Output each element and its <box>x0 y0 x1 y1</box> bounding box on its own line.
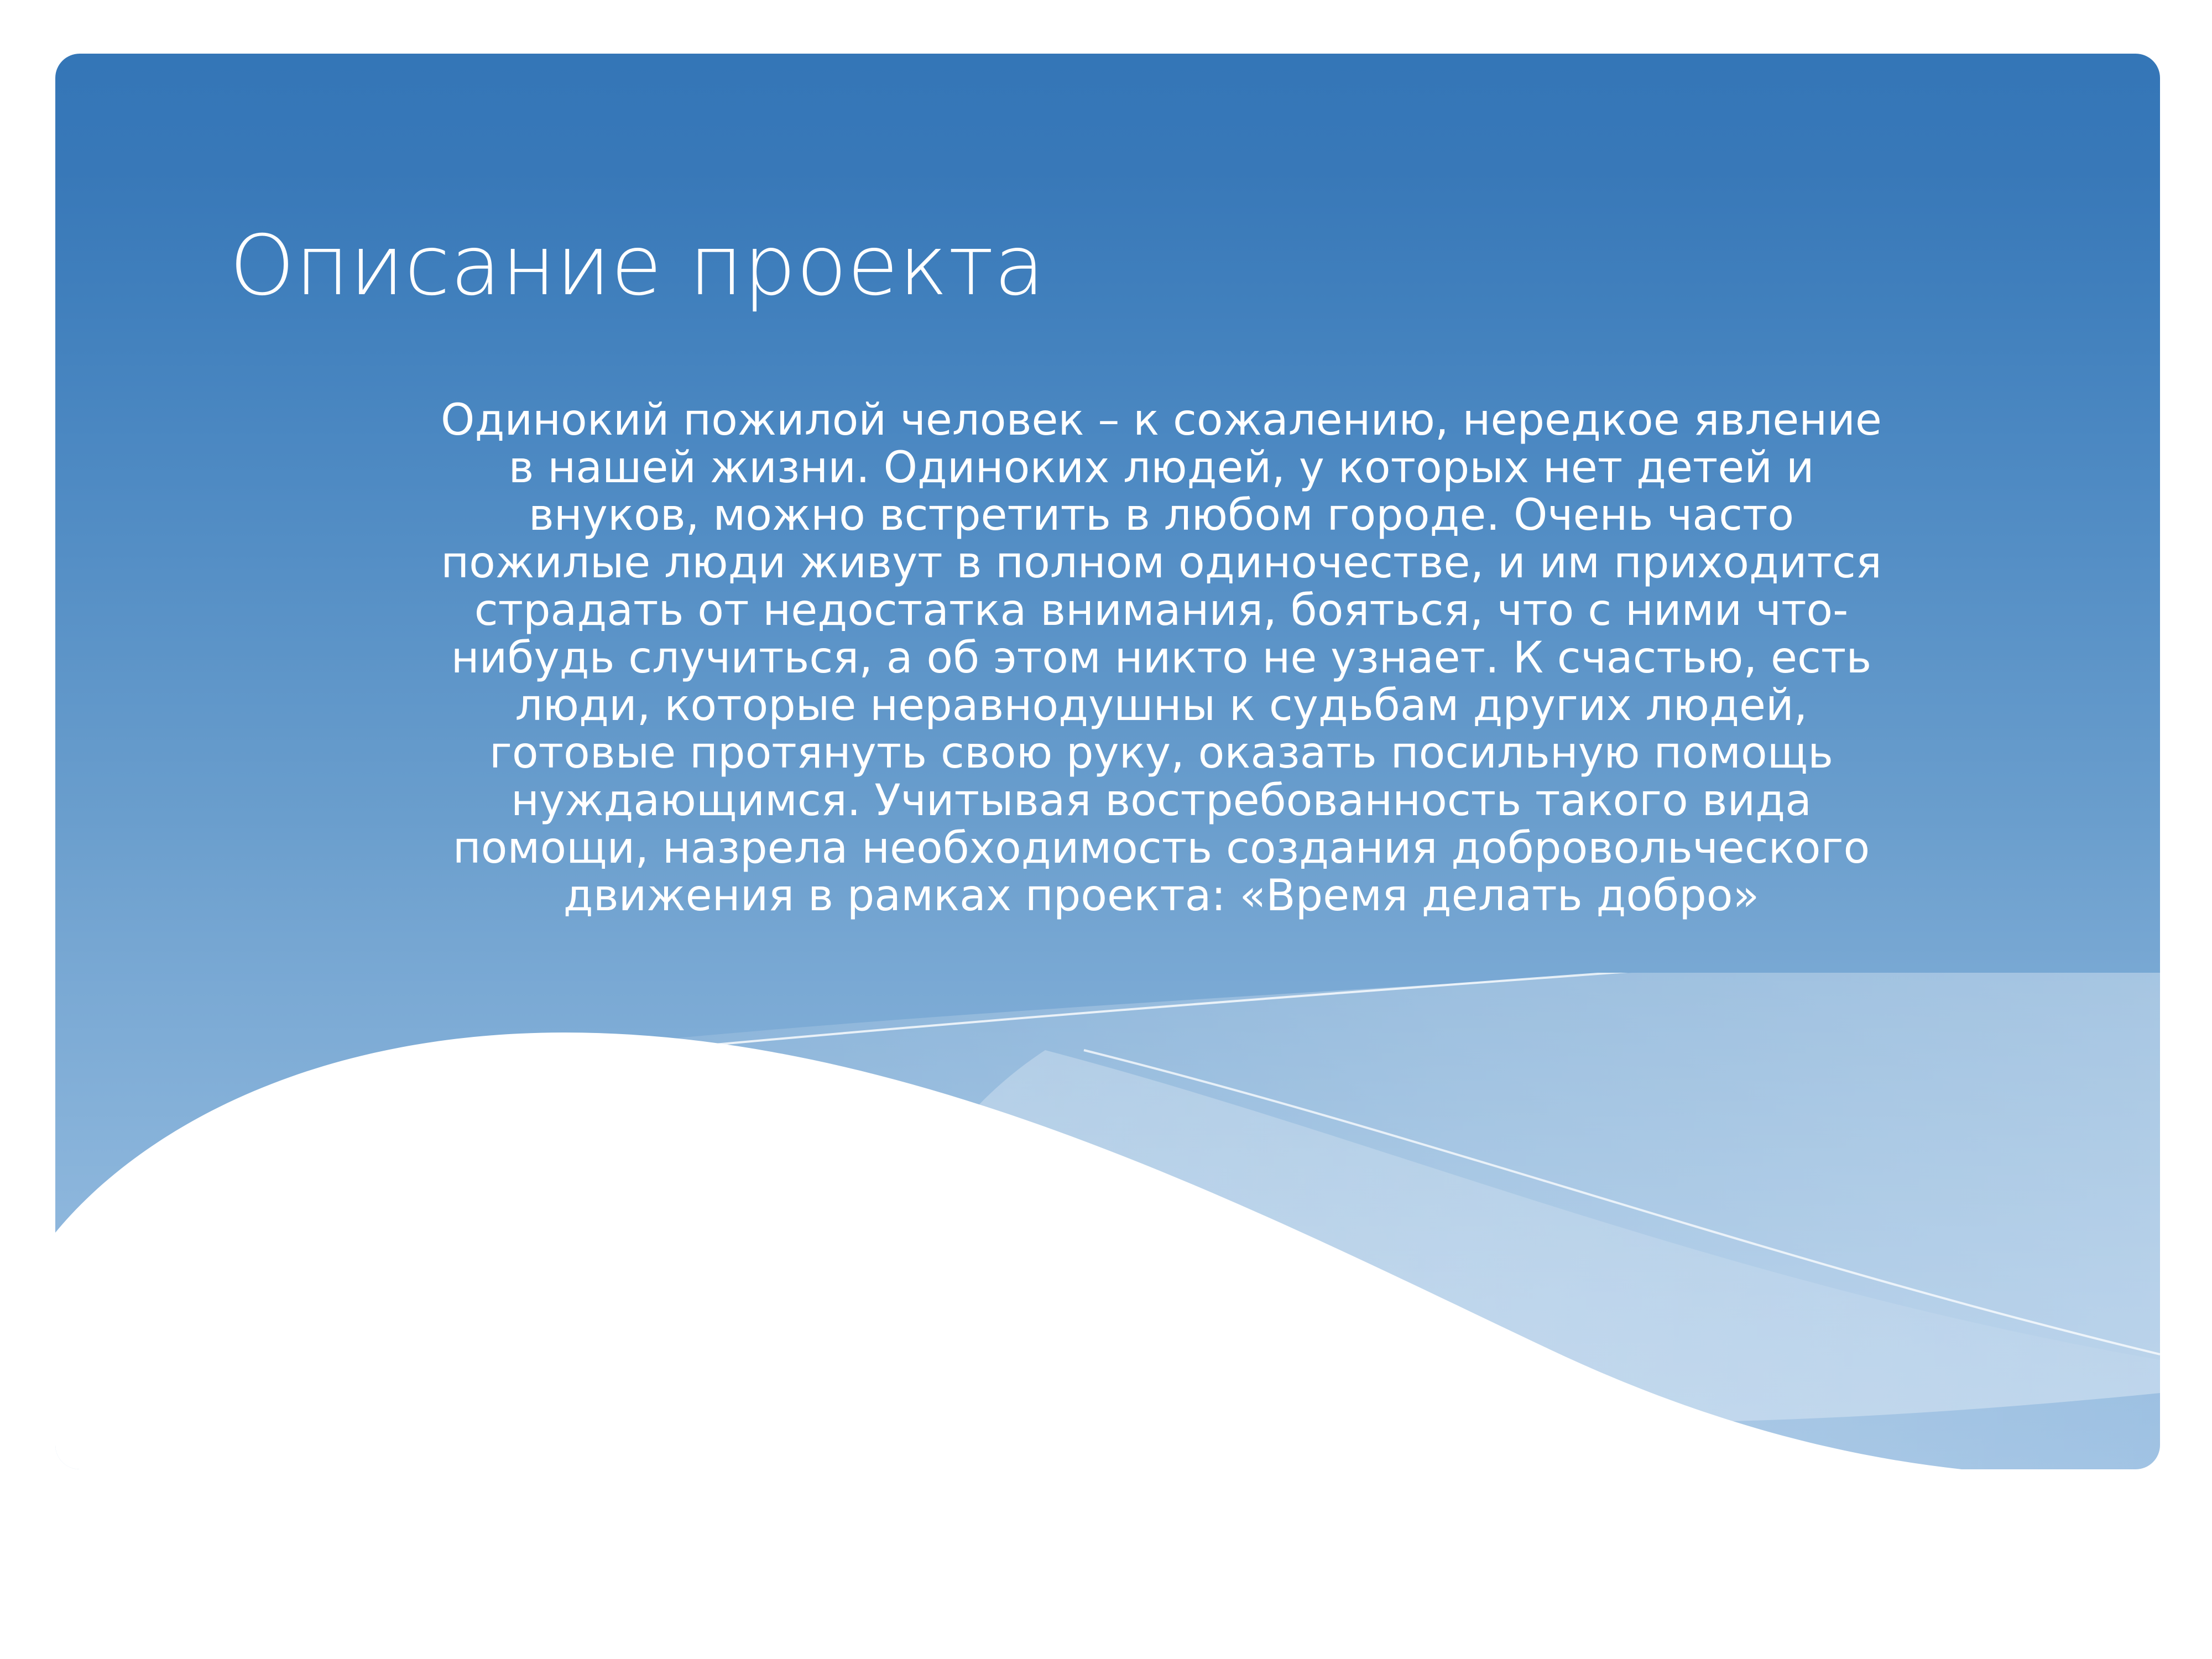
body-line: нибудь случиться, а об этом никто не узн… <box>155 634 2160 682</box>
body-line: пожилые люди живут в полном одиночестве,… <box>155 539 2160 587</box>
page-title: Описание проекта <box>229 220 2054 312</box>
body-line: Одинокий пожилой человек – к сожалению, … <box>155 397 2160 444</box>
body-line: страдать от недостатка внимания, бояться… <box>155 587 2160 634</box>
body-line: помощи, назрела необходимость создания д… <box>155 825 2160 872</box>
body-line: нуждающимся. Учитывая востребованность т… <box>155 777 2160 825</box>
body-line: внуков, можно встретить в любом городе. … <box>155 492 2160 539</box>
slide-body-text: Одинокий пожилой человек – к сожалению, … <box>155 397 2160 920</box>
body-line: люди, которые неравнодушны к судьбам дру… <box>155 682 2160 729</box>
body-line: движения в рамках проекта: «Время делать… <box>155 872 2160 920</box>
body-line: готовые протянуть свою руку, оказать пос… <box>155 729 2160 777</box>
slide-canvas: Описание проекта Одинокий пожилой челове… <box>0 0 2212 1659</box>
body-line: в нашей жизни. Одиноких людей, у которых… <box>155 444 2160 492</box>
slide-panel: Описание проекта Одинокий пожилой челове… <box>55 54 2160 1469</box>
decorative-wave-artwork <box>55 973 2160 1469</box>
